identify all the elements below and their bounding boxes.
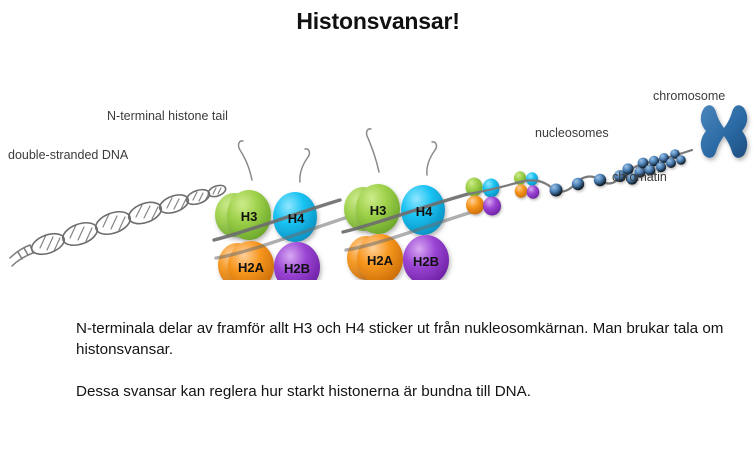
nucleosome-octamer-small-2 [514, 171, 539, 199]
histone-label-h2b-2: H2B [413, 254, 439, 269]
chromosome-icon [701, 105, 747, 158]
nucleosome-octamer-2: H3 H4 H2A H2B [343, 129, 472, 280]
label-nucleosomes: nucleosomes [535, 126, 609, 140]
body-text-block: N-terminala delar av framför allt H3 och… [76, 318, 736, 402]
label-chromosome: chromosome [653, 89, 725, 103]
nucleosome-beads [550, 174, 607, 197]
histone-label-h3: H3 [241, 209, 258, 224]
nucleosome-octamer-small-1 [466, 178, 502, 216]
histone-label-h3-2: H3 [370, 203, 387, 218]
dna-packaging-illustration: H3 H4 H2A H2B H3 H4 H2A H2B [0, 62, 756, 280]
histone-label-h2b: H2B [284, 261, 310, 276]
body-paragraph-2: Dessa svansar kan reglera hur starkt his… [76, 381, 736, 402]
histone-label-h2a-2: H2A [367, 253, 394, 268]
histone-label-h4: H4 [288, 211, 305, 226]
label-double-stranded-dna: double-stranded DNA [8, 148, 129, 162]
n-terminal-histone-tail-icon-2 [367, 129, 437, 175]
n-terminal-histone-tail-icon [239, 141, 310, 182]
histone-label-h4-2: H4 [416, 204, 433, 219]
label-chromatin: chromatin [612, 170, 667, 184]
nucleosome-octamer-1: H3 H4 H2A H2B [214, 141, 345, 280]
dna-packaging-figure: H3 H4 H2A H2B H3 H4 H2A H2B [0, 62, 756, 280]
double-stranded-dna-helix [10, 183, 227, 266]
body-paragraph-1: N-terminala delar av framför allt H3 och… [76, 318, 736, 360]
histone-label-h2a: H2A [238, 260, 265, 275]
label-n-terminal-histone-tail: N-terminal histone tail [107, 109, 228, 123]
page-title: Histonsvansar! [0, 8, 756, 35]
